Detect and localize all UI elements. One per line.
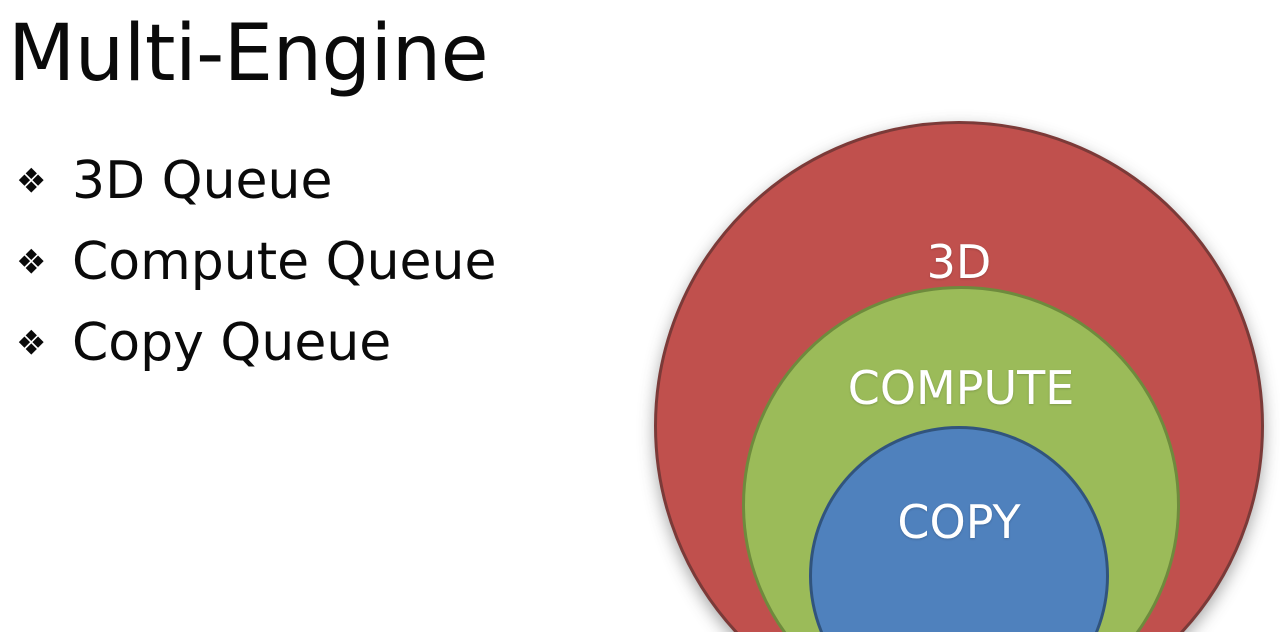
diamond-bullet-icon: ❖ (16, 245, 46, 279)
list-item-label: Compute Queue (72, 233, 496, 291)
list-item-label: Copy Queue (72, 314, 391, 372)
diamond-bullet-icon: ❖ (16, 326, 46, 360)
circle-copy-label: COPY (897, 499, 1020, 632)
list-item[interactable]: ❖ Compute Queue (8, 221, 608, 302)
list-item[interactable]: ❖ Copy Queue (8, 302, 608, 383)
slide-canvas: Multi-Engine ❖ 3D Queue ❖ Compute Queue … (0, 0, 1280, 632)
list-item[interactable]: ❖ 3D Queue (8, 140, 608, 221)
page-title: Multi-Engine (8, 6, 488, 102)
list-item-label: 3D Queue (72, 152, 332, 210)
nested-engine-circles-diagram: 3D COMPUTE COPY (620, 100, 1280, 632)
bullet-list: ❖ 3D Queue ❖ Compute Queue ❖ Copy Queue (8, 140, 608, 383)
diamond-bullet-icon: ❖ (16, 164, 46, 198)
